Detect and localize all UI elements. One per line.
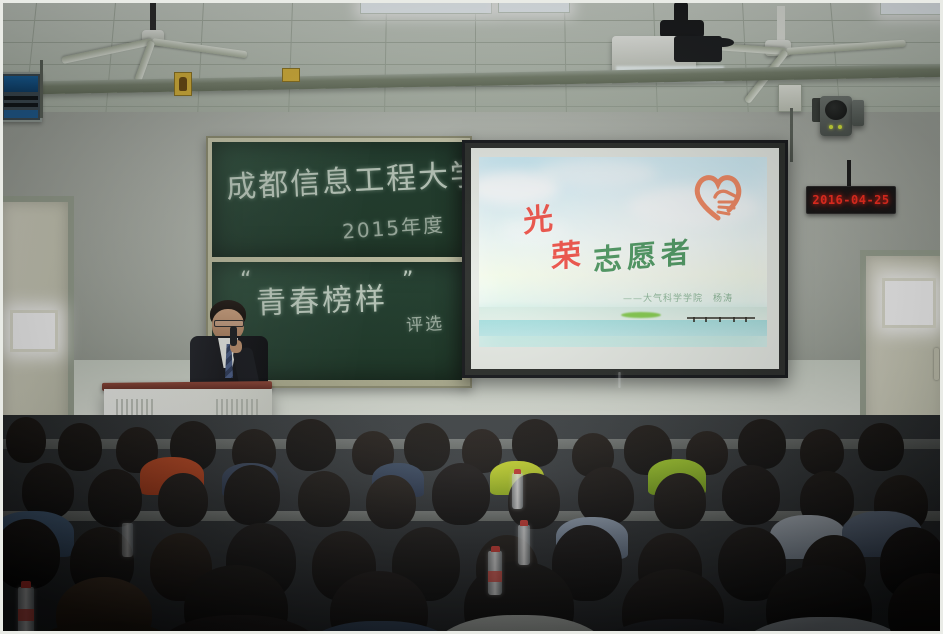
ceiling-fan-left: [88, 2, 218, 48]
led-date-text: 2016-04-25: [812, 193, 889, 207]
fan-blade: [786, 40, 906, 55]
emergency-sign-icon: [282, 68, 300, 82]
slide-island: [621, 312, 661, 318]
electrical-control-panel: [0, 72, 42, 122]
slide-title-guang: 光: [522, 193, 553, 241]
slide-title-volunteer: 志愿者: [593, 228, 695, 279]
fire-equipment-sign-icon: [174, 72, 192, 96]
handheld-microphone: [230, 326, 237, 346]
photo-scene: 2016-04-25 成都信息工程大学 2015年度 “ 青春榜样 ” 评选: [0, 0, 943, 634]
slide-subtitle: ——大气科学学院 杨涛: [623, 291, 733, 304]
skylight-2: [498, 0, 570, 13]
blackboard-selection-label: 评选: [405, 309, 444, 336]
audience-seating: [0, 415, 943, 634]
door-window-right: [882, 278, 936, 328]
presentation-slide: 光 荣 志愿者 ——大气科学学院 杨涛: [479, 157, 767, 347]
ceiling-projector: [612, 2, 762, 78]
door-window-left: [10, 310, 58, 352]
slide-sea: [479, 320, 767, 336]
exit-door-left[interactable]: [0, 196, 74, 432]
wall-conduit: [40, 60, 43, 118]
blackboard-panel-upper: 成都信息工程大学 2015年度: [212, 142, 462, 257]
blackboard-year: 2015年度: [341, 208, 446, 244]
presenter-glasses: [214, 320, 244, 327]
led-mount-rod: [847, 160, 851, 188]
heart-hand-volunteer-logo: [691, 171, 745, 221]
speaker-side-panel: [852, 100, 864, 126]
blackboard-quote-open: “: [240, 268, 251, 293]
door-handle-right[interactable]: [934, 348, 939, 380]
blackboard-quote-close: ”: [402, 268, 413, 293]
skylight-1: [360, 0, 492, 14]
led-date-display: 2016-04-25: [806, 186, 896, 214]
projection-screen: 光 荣 志愿者 ——大气科学学院 杨涛: [462, 140, 788, 378]
wall-mounted-speaker: [820, 96, 852, 136]
slide-title-rong: 荣: [551, 229, 581, 276]
right-wall-conduit: [790, 108, 793, 162]
